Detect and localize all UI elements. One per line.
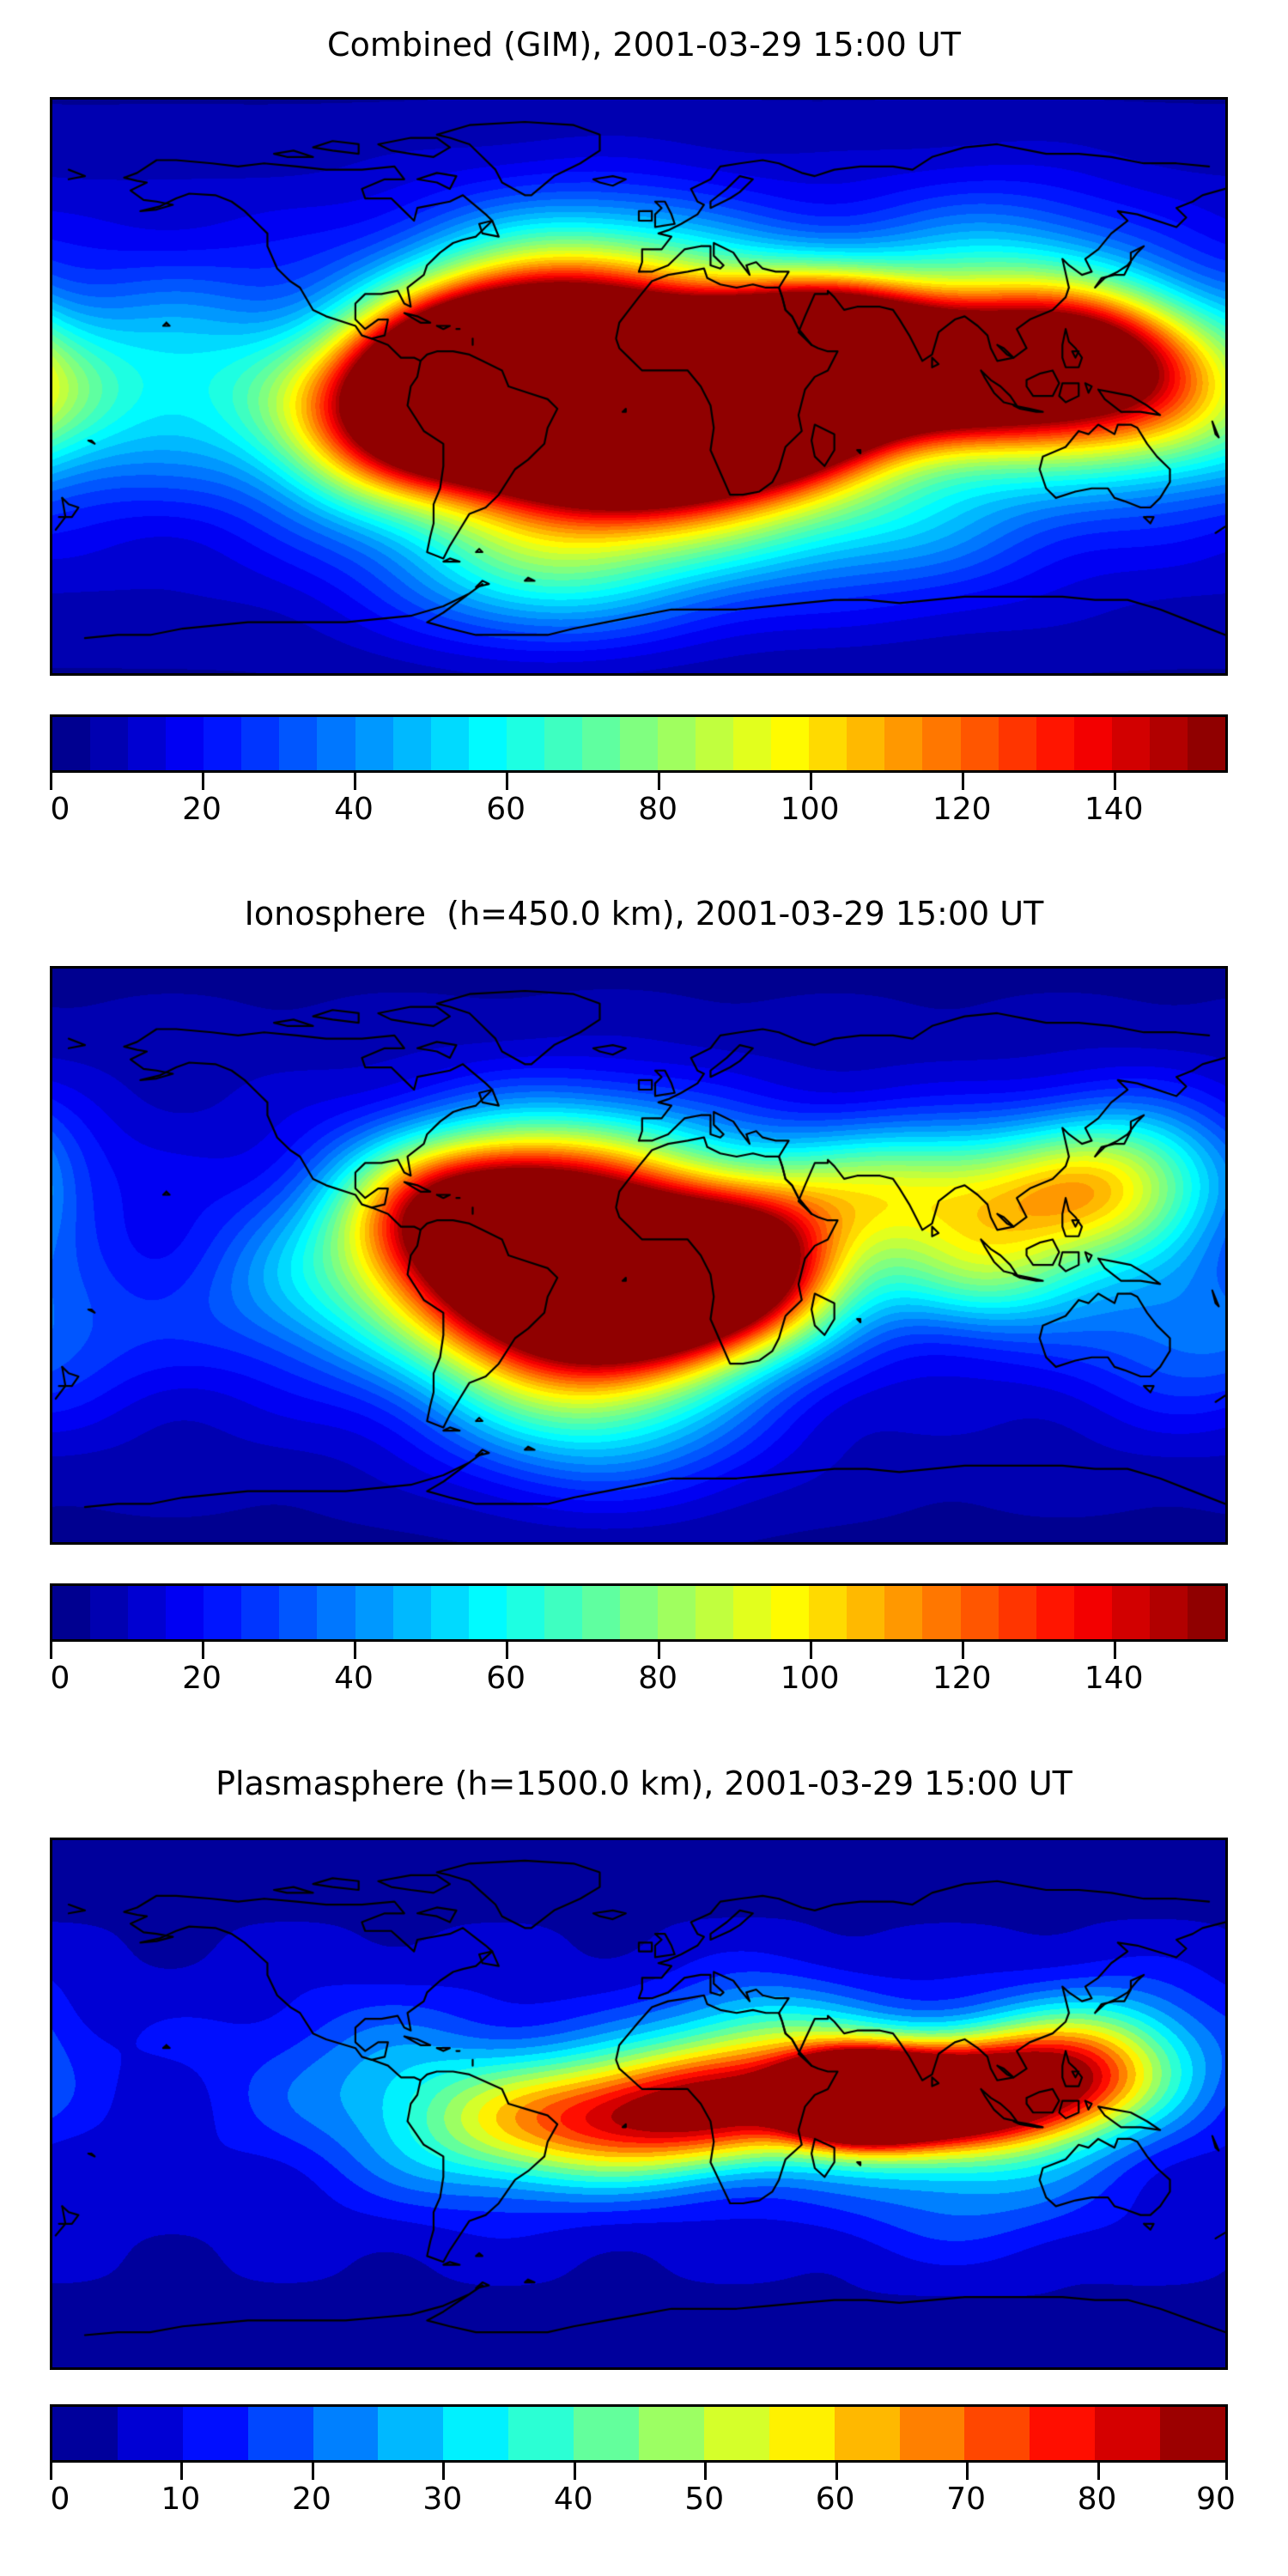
colorbar-segment: [241, 717, 280, 770]
colorbar-tick: [1225, 2463, 1228, 2480]
colorbar-segment: [431, 1586, 470, 1639]
colorbar-tick: [50, 2463, 52, 2480]
colorbar-gradient-plasmasphere: [50, 2404, 1228, 2463]
colorbar-segment: [639, 2407, 705, 2460]
colorbar-tick-label: 0: [51, 792, 70, 827]
colorbar-segment: [313, 2407, 380, 2460]
colorbar-tick: [180, 2463, 183, 2480]
colorbar-segment: [279, 717, 318, 770]
colorbar-tick: [1097, 2463, 1100, 2480]
colorbar-tick-label: 20: [182, 792, 222, 827]
colorbar-tick: [810, 773, 812, 790]
colorbar-segment: [183, 2407, 249, 2460]
colorbar-segment: [279, 1586, 318, 1639]
colorbar-tick-label: 50: [684, 2482, 724, 2517]
colorbar-tick: [658, 1642, 660, 1659]
colorbar-tick-label: 70: [946, 2482, 986, 2517]
colorbar-segment: [620, 1586, 659, 1639]
colorbar-segment: [469, 717, 507, 770]
colorbar-segment: [248, 2407, 314, 2460]
colorbar-tick: [442, 2463, 445, 2480]
colorbar-segment: [1150, 717, 1188, 770]
colorbar-tick: [202, 773, 204, 790]
colorbar-tick-label: 0: [51, 1661, 70, 1696]
colorbar-segment: [393, 1586, 432, 1639]
colorbar-segment: [378, 2407, 444, 2460]
colorbar-tick-label: 10: [161, 2482, 201, 2517]
colorbar-segment: [393, 717, 432, 770]
colorbar-segment: [704, 2407, 770, 2460]
colorbar-segment: [964, 2407, 1030, 2460]
colorbar-segment: [620, 717, 659, 770]
colorbar-segment: [166, 1586, 204, 1639]
colorbar-segment: [1150, 1586, 1188, 1639]
colorbar-tick-label: 140: [1084, 1661, 1144, 1696]
colorbar-segment: [809, 717, 848, 770]
colorbar-segment: [431, 717, 470, 770]
colorbar-tick: [966, 2463, 969, 2480]
panel-title-combined: Combined (GIM), 2001-03-29 15:00 UT: [0, 26, 1288, 64]
colorbar-gradient-combined: [50, 714, 1228, 773]
map-canvas-combined: [52, 100, 1225, 673]
colorbar-tick: [810, 1642, 812, 1659]
colorbar-ticks-combined: [50, 773, 1228, 792]
colorbar-tick: [312, 2463, 314, 2480]
colorbar-segment: [771, 1586, 810, 1639]
colorbar-segment: [884, 1586, 923, 1639]
colorbar-tick: [354, 1642, 356, 1659]
colorbar-tick-label: 60: [486, 1661, 526, 1696]
colorbar-segment: [658, 717, 696, 770]
colorbar-gradient-ionosphere: [50, 1583, 1228, 1642]
colorbar-tick-label: 80: [638, 792, 677, 827]
colorbar-tick: [704, 2463, 707, 2480]
colorbar-tick-label: 100: [781, 792, 840, 827]
colorbar-segment: [204, 717, 242, 770]
colorbar-segment: [317, 1586, 355, 1639]
colorbar-segment: [1036, 1586, 1075, 1639]
colorbar-tick-label: 40: [334, 1661, 374, 1696]
colorbar-segment: [544, 717, 583, 770]
colorbar-segment: [1160, 2407, 1226, 2460]
colorbar-tick: [50, 773, 52, 790]
colorbar-tick-label: 80: [638, 1661, 677, 1696]
colorbar-segment: [769, 2407, 835, 2460]
colorbar-tick: [202, 1642, 204, 1659]
colorbar-segment: [771, 717, 810, 770]
colorbar-segment: [317, 717, 355, 770]
colorbar-tick-label: 20: [292, 2482, 331, 2517]
colorbar-tick-label: 60: [816, 2482, 855, 2517]
colorbar-segment: [118, 2407, 184, 2460]
colorbar-tick-label: 40: [554, 2482, 593, 2517]
map-combined: [50, 97, 1228, 676]
colorbar-segment: [90, 1586, 129, 1639]
colorbar-segment: [696, 717, 734, 770]
colorbar-segment: [52, 717, 91, 770]
colorbar-segment: [469, 1586, 507, 1639]
colorbar-segment: [90, 717, 129, 770]
colorbar-tick-label: 60: [486, 792, 526, 827]
colorbar-combined: 020406080100120140: [50, 714, 1228, 835]
colorbar-segment: [847, 717, 885, 770]
colorbar-segment: [1112, 717, 1151, 770]
colorbar-segment: [582, 1586, 621, 1639]
colorbar-segment: [1074, 1586, 1113, 1639]
colorbar-segment: [508, 2407, 574, 2460]
colorbar-segment: [999, 1586, 1037, 1639]
colorbar-segment: [961, 1586, 999, 1639]
colorbar-segment: [922, 1586, 961, 1639]
colorbar-segment: [241, 1586, 280, 1639]
colorbar-segment: [355, 1586, 394, 1639]
colorbar-tick-label: 80: [1078, 2482, 1117, 2517]
panel-title-plasmasphere: Plasmasphere (h=1500.0 km), 2001-03-29 1…: [0, 1765, 1288, 1802]
colorbar-tick: [658, 773, 660, 790]
colorbar-segment: [1095, 2407, 1161, 2460]
colorbar-tick-label: 100: [781, 1661, 840, 1696]
colorbar-tick: [506, 1642, 508, 1659]
colorbar-tick-label: 40: [334, 792, 374, 827]
colorbar-tick: [835, 2463, 838, 2480]
colorbar-tick: [1114, 773, 1116, 790]
map-plasmasphere: [50, 1838, 1228, 2370]
colorbar-segment: [166, 717, 204, 770]
colorbar-segment: [1188, 717, 1226, 770]
colorbar-segment: [1188, 1586, 1226, 1639]
colorbar-segment: [922, 717, 961, 770]
colorbar-tick-label: 140: [1084, 792, 1144, 827]
colorbar-tick: [962, 1642, 964, 1659]
colorbar-segment: [355, 717, 394, 770]
colorbar-plasmasphere: 0102030405060708090: [50, 2404, 1228, 2524]
colorbar-labels-combined: 020406080100120140: [50, 792, 1228, 835]
colorbar-segment: [999, 717, 1037, 770]
colorbar-segment: [574, 2407, 640, 2460]
map-canvas-ionosphere: [52, 969, 1225, 1542]
colorbar-ionosphere: 020406080100120140: [50, 1583, 1228, 1704]
colorbar-segment: [847, 1586, 885, 1639]
colorbar-segment: [696, 1586, 734, 1639]
colorbar-segment: [204, 1586, 242, 1639]
colorbar-segment: [835, 2407, 901, 2460]
colorbar-segment: [507, 1586, 545, 1639]
colorbar-segment: [128, 1586, 167, 1639]
colorbar-segment: [544, 1586, 583, 1639]
colorbar-segment: [128, 717, 167, 770]
map-ionosphere: [50, 966, 1228, 1545]
colorbar-tick-label: 0: [51, 2482, 70, 2517]
colorbar-labels-plasmasphere: 0102030405060708090: [50, 2482, 1228, 2524]
colorbar-tick: [962, 773, 964, 790]
colorbar-segment: [733, 717, 772, 770]
colorbar-segment: [52, 2407, 118, 2460]
colorbar-tick: [574, 2463, 576, 2480]
colorbar-tick-label: 20: [182, 1661, 222, 1696]
colorbar-tick-label: 90: [1196, 2482, 1236, 2517]
panel-title-ionosphere: Ionosphere (h=450.0 km), 2001-03-29 15:0…: [0, 895, 1288, 933]
colorbar-segment: [961, 717, 999, 770]
colorbar-segment: [1074, 717, 1113, 770]
map-canvas-plasmasphere: [52, 1840, 1225, 2367]
colorbar-tick: [50, 1642, 52, 1659]
colorbar-segment: [582, 717, 621, 770]
colorbar-segment: [1036, 717, 1075, 770]
colorbar-segment: [809, 1586, 848, 1639]
colorbar-segment: [1112, 1586, 1151, 1639]
colorbar-ticks-ionosphere: [50, 1642, 1228, 1661]
colorbar-segment: [52, 1586, 91, 1639]
colorbar-segment: [733, 1586, 772, 1639]
colorbar-tick-label: 30: [422, 2482, 462, 2517]
figure-root: Combined (GIM), 2001-03-29 15:00 UT 0204…: [0, 0, 1288, 2576]
colorbar-segment: [507, 717, 545, 770]
colorbar-segment: [1030, 2407, 1096, 2460]
colorbar-labels-ionosphere: 020406080100120140: [50, 1661, 1228, 1704]
colorbar-ticks-plasmasphere: [50, 2463, 1228, 2482]
colorbar-segment: [443, 2407, 509, 2460]
colorbar-segment: [658, 1586, 696, 1639]
colorbar-tick-label: 120: [933, 792, 992, 827]
colorbar-segment: [900, 2407, 966, 2460]
colorbar-tick: [506, 773, 508, 790]
colorbar-tick: [354, 773, 356, 790]
colorbar-segment: [884, 717, 923, 770]
colorbar-tick: [1114, 1642, 1116, 1659]
colorbar-tick-label: 120: [933, 1661, 992, 1696]
